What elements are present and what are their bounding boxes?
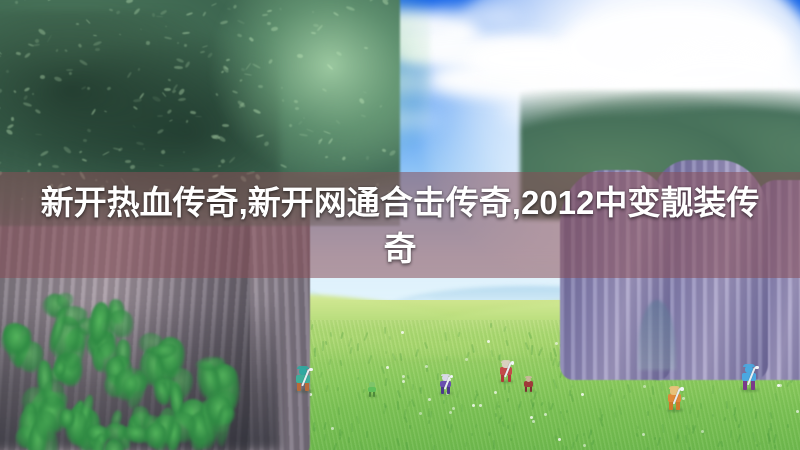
character-sprite xyxy=(524,376,533,392)
character-sprite xyxy=(440,374,451,394)
page-title: 新开热血传奇,新开网通合击传奇,2012中变靓装传奇 xyxy=(0,180,800,272)
character-sprite xyxy=(296,366,310,391)
character-sprite xyxy=(668,386,681,410)
character-sprite xyxy=(742,364,756,390)
game-banner: 新开热血传奇,新开网通合击传奇,2012中变靓装传奇 xyxy=(0,0,800,450)
cloud xyxy=(430,6,520,26)
character-sprite xyxy=(368,382,376,397)
character-sprite xyxy=(500,360,512,382)
